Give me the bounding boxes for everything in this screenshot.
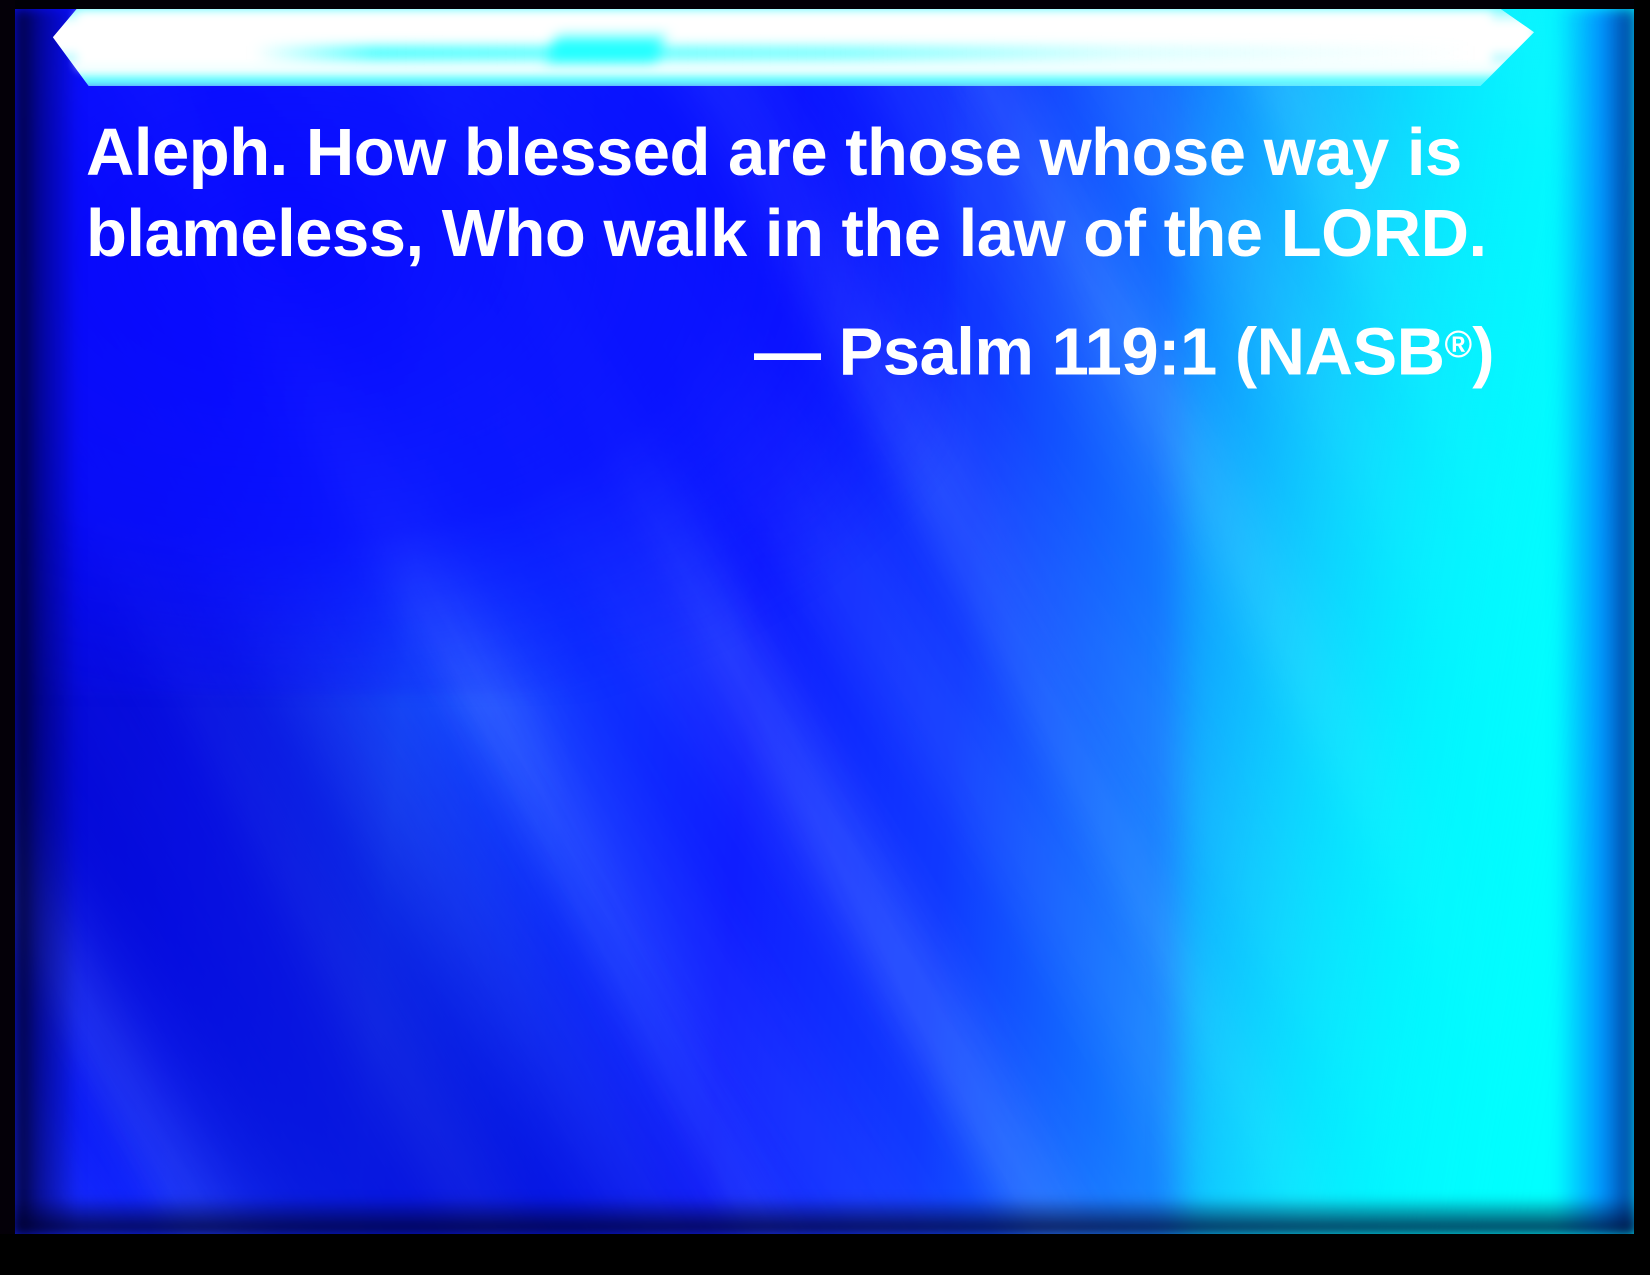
attribution-version-close: ) — [1472, 314, 1494, 389]
attribution-version-open: (NASB — [1235, 314, 1445, 389]
attribution-reference: Psalm 119:1 — [839, 314, 1217, 389]
top-black-border — [0, 0, 1650, 9]
registered-trademark-icon: ® — [1445, 323, 1473, 365]
background-bottom-edge-fade — [14, 1197, 1636, 1234]
right-black-border — [1634, 0, 1650, 1275]
background-right-edge-fade — [1555, 8, 1636, 1234]
verse-attribution: — Psalm 119:1 (NASB®) — [86, 304, 1506, 392]
verse-text: Aleph. How blessed are those whose way i… — [86, 112, 1506, 274]
background-left-edge-fade — [14, 8, 79, 1234]
scripture-slide: Aleph. How blessed are those whose way i… — [0, 0, 1650, 1275]
bottom-black-border — [0, 1234, 1650, 1275]
text-block: Aleph. How blessed are those whose way i… — [86, 112, 1506, 392]
attribution-dash: — — [754, 314, 821, 389]
left-black-border — [0, 0, 15, 1275]
